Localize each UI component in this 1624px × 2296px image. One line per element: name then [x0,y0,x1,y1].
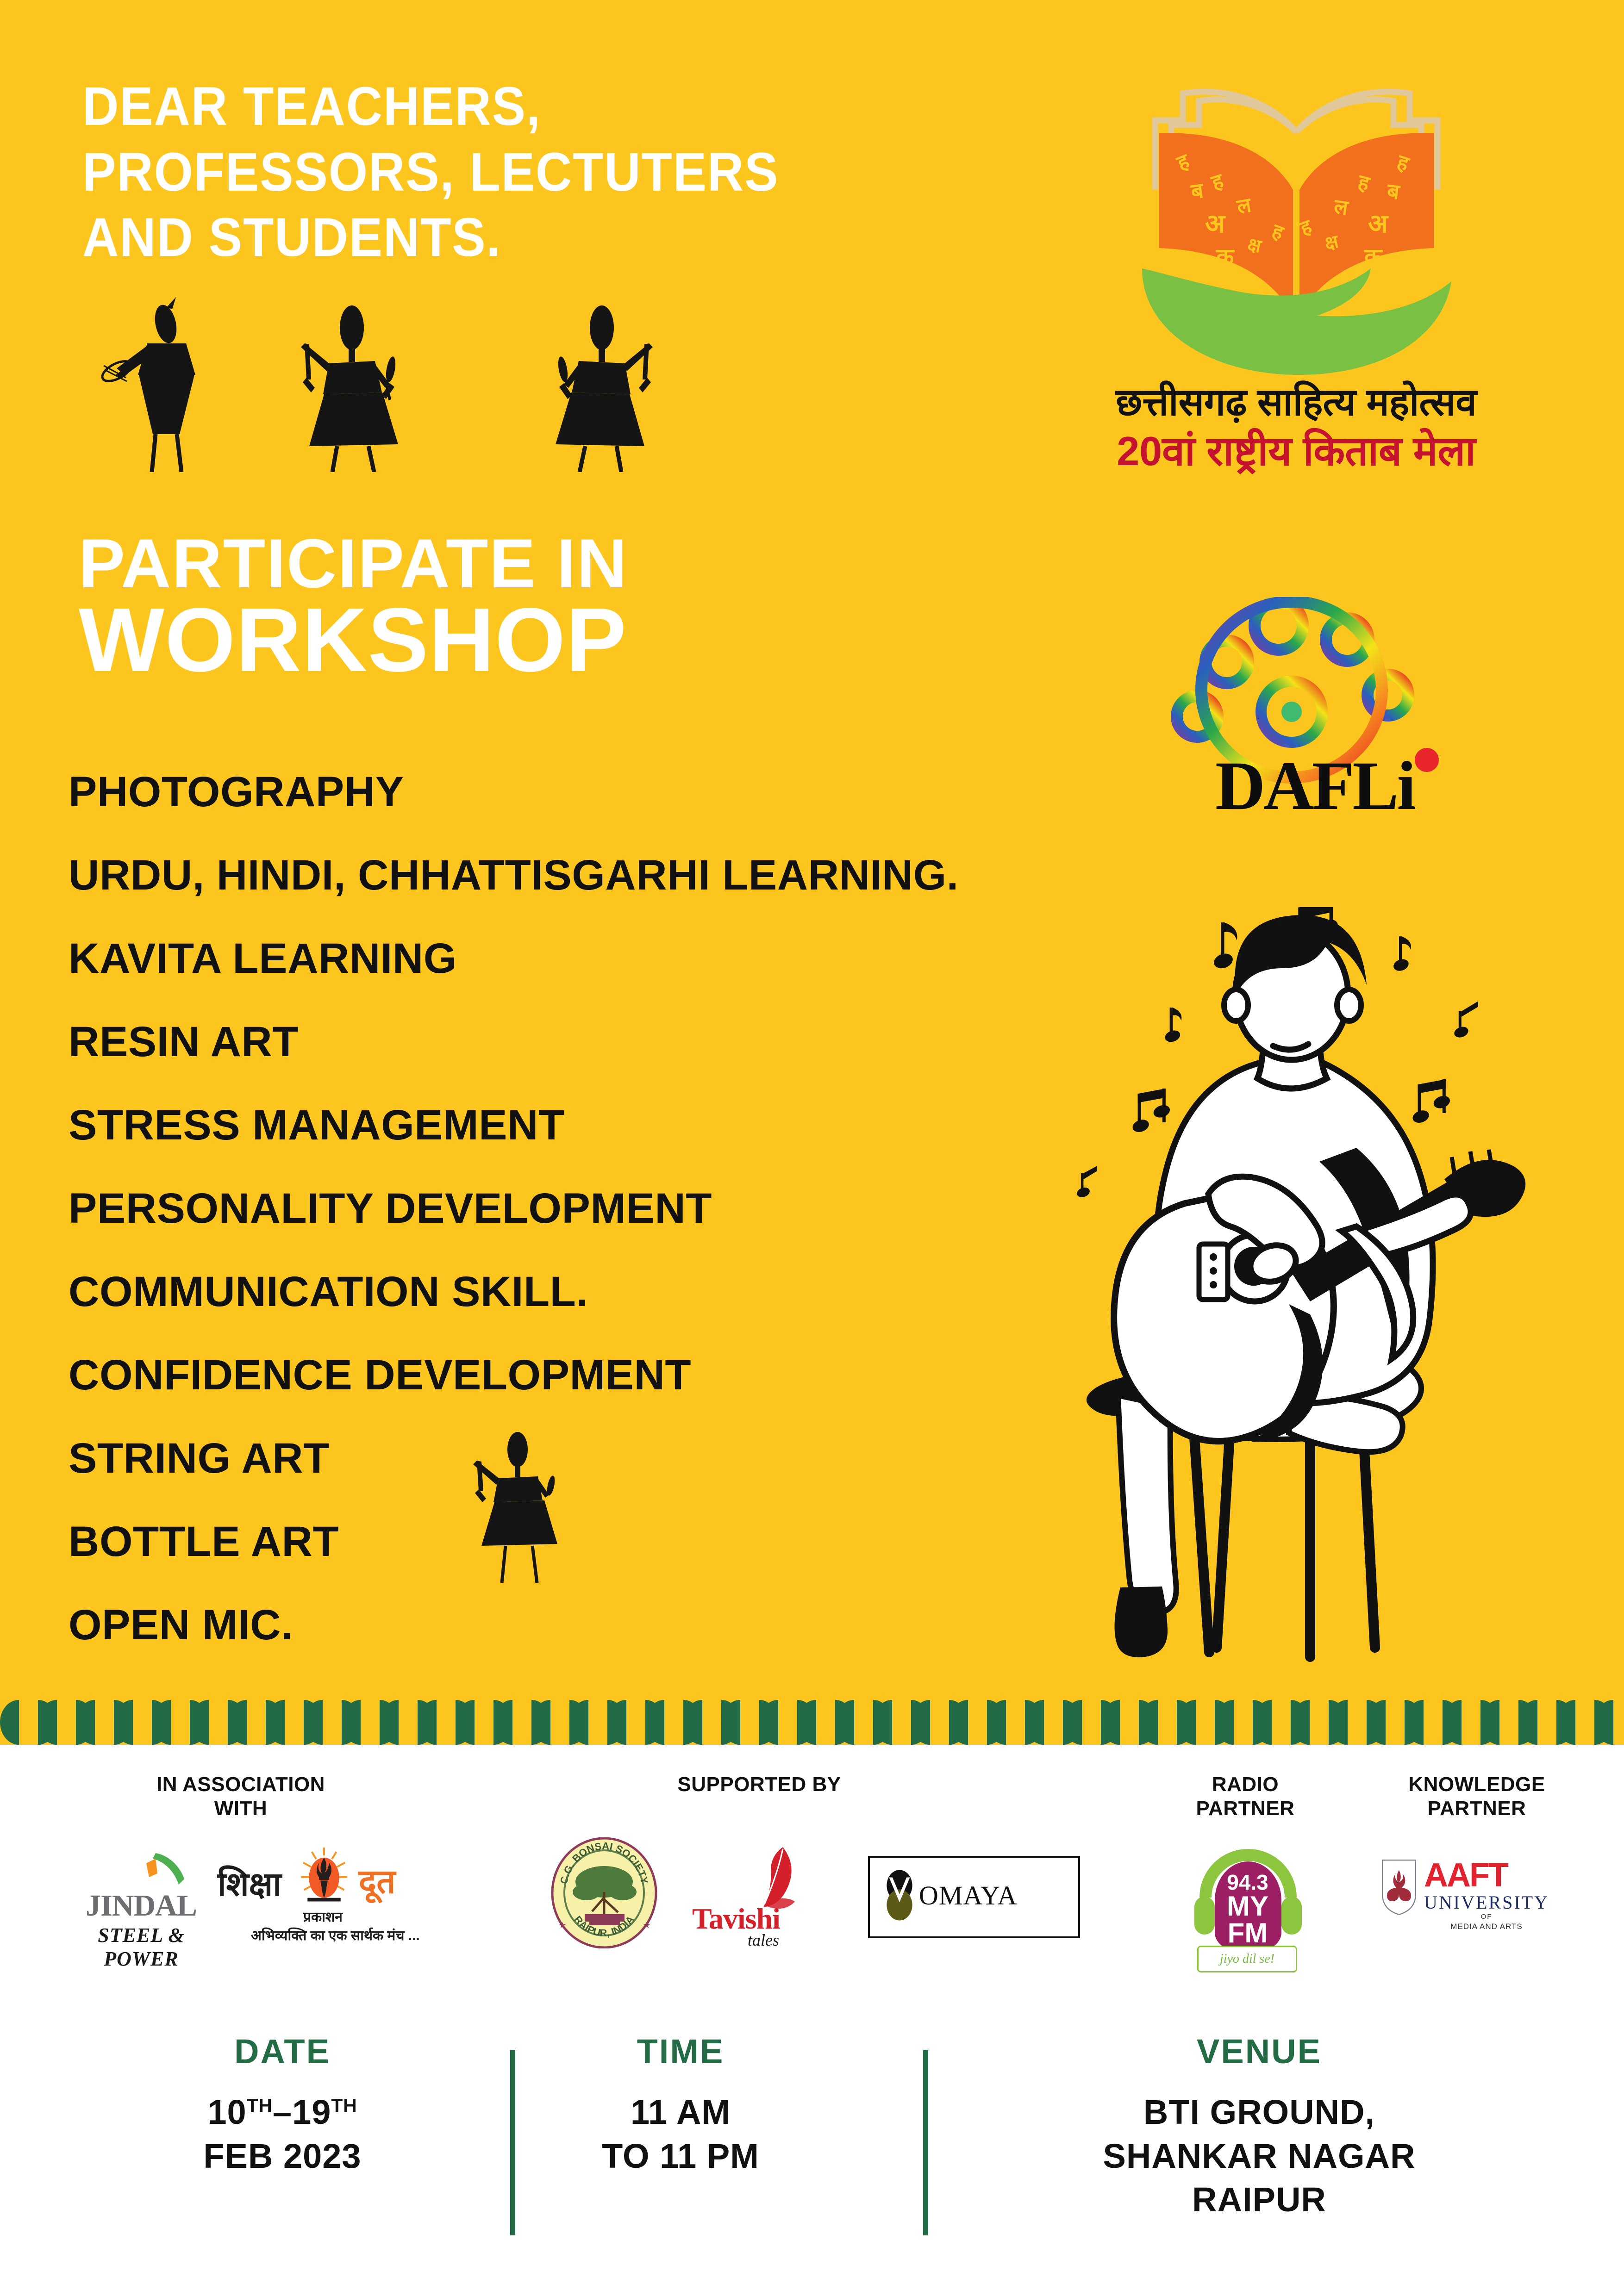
list-item: STRESS MANAGEMENT [69,1104,1180,1146]
prakashan-word: प्रकाशन [303,1907,343,1926]
sponsor-heading-line-2: WITH [130,1797,352,1821]
svg-text:क: क [1364,244,1383,270]
aaft-university-text: UNIVERSITY [1424,1892,1549,1913]
list-item: COMMUNICATION SKILL. [69,1270,1180,1313]
venue-block: VENUE BTI GROUND, SHANKAR NAGAR RAIPUR [981,2032,1537,2222]
omaya-wordmark: OMAYA [919,1880,1017,1911]
warli-dancers-top-illustration [69,287,856,472]
date-block: DATE 10TH–19TH FEB 2023 [176,2032,389,2178]
aaft-of-text: OF [1424,1913,1549,1921]
festival-name-hindi: छत्तीसगढ़ साहित्य महोत्सव [1044,383,1549,422]
list-item: OPEN MIC. [69,1604,1180,1646]
svg-text:क: क [1216,244,1235,270]
jindal-wordmark: JINDAL [65,1888,218,1923]
aaft-media-arts-text: MEDIA AND ARTS [1424,1922,1549,1931]
sponsor-heading-knowledge-partner: KNOWLEDGE PARTNER [1370,1773,1583,1821]
shiksha-word: शिक्षा [218,1860,281,1906]
date-month-year: FEB 2023 [176,2134,389,2178]
page-title: PARTICIPATE IN WORKSHOP [79,530,1051,684]
sponsor-heading-line-1: RADIO [1148,1773,1343,1797]
tavishi-tales-logo: Tavishi tales [692,1844,826,1946]
venue-title: VENUE [981,2032,1537,2071]
jindal-steel-and-power-logo: JINDAL STEEL & POWER [65,1847,218,1939]
jindal-subtitle: STEEL & POWER [65,1923,218,1971]
sponsor-heading-supported-by: SUPPORTED BY [643,1773,875,1797]
sponsor-heading-radio-partner: RADIO PARTNER [1148,1773,1343,1821]
sponsor-heading-line-1: IN ASSOCIATION [130,1773,352,1797]
date-title: DATE [176,2032,389,2071]
list-item: URDU, HINDI, CHHATTISGARHI LEARNING. [69,854,1180,896]
event-info-bar: DATE 10TH–19TH FEB 2023 TIME 11 AM TO 11… [0,2009,1624,2296]
salutation-line-3: AND STUDENTS. [82,205,934,271]
sponsor-heading-line-1: KNOWLEDGE [1370,1773,1583,1797]
doot-word: दूत [359,1858,395,1903]
headline-line-2: WORKSHOP [79,597,1051,684]
pen-nib-flame-icon [299,1848,350,1909]
aaft-shield-icon [1380,1857,1418,1917]
time-start: 11 AM [579,2091,782,2134]
myfm-word-my: MY [1185,1893,1310,1919]
sponsor-heading-in-association: IN ASSOCIATION WITH [130,1773,352,1821]
cg-bonsai-society-logo: C.G. BONSAI SOCIETY RAIPUR, INDIA ★ ★ [549,1837,660,1948]
sponsors-section: IN ASSOCIATION WITH JINDAL STEEL & POWER… [0,1745,1624,2004]
divider-rule-1 [510,2050,515,2235]
quill-feather-icon [692,1844,826,1909]
guitarist-illustration [1032,907,1611,1671]
tavishi-tales-subtitle: tales [748,1930,826,1950]
sponsor-heading-line-2: PARTNER [1370,1797,1583,1821]
myfm-radio-logo: 94.3 MY FM jiyo dil se! [1185,1842,1310,1962]
aaft-university-logo: AAFT UNIVERSITY OF MEDIA AND ARTS [1380,1854,1583,1941]
list-item: KAVITA LEARNING [69,937,1180,980]
headline-line-1: PARTICIPATE IN [79,530,1051,597]
myfm-word-fm: FM [1185,1920,1310,1946]
salutation-block: DEAR TEACHERS, PROFESSORS, LECTUTERS AND… [82,74,934,271]
list-item: PHOTOGRAPHY [69,771,1180,813]
warli-dancing-pair-illustration [458,1430,681,1606]
time-title: TIME [579,2032,782,2071]
shiksha-doot-prakashan-logo: शिक्षा दूत प्रकाशन अभिव्यक्ति का एक सार्… [218,1842,463,1948]
date-range: 10TH–19TH [176,2091,389,2134]
festival-logo: ह ह ब ल अ क्ष ह क ह ह ब ल अ क्ष ह [1044,51,1549,532]
salutation-line-2: PROFESSORS, LECTUTERS [82,140,934,205]
poster-root: DEAR TEACHERS, PROFESSORS, LECTUTERS AND… [0,0,1624,2296]
omaya-logo: OMAYA [868,1856,1080,1938]
svg-text:★: ★ [559,1921,566,1930]
list-item: CONFIDENCE DEVELOPMENT [69,1354,1180,1396]
open-book-in-hand-icon: ह ह ब ल अ क्ष ह क ह ह ब ल अ क्ष ह [1099,51,1493,384]
list-item: RESIN ART [69,1020,1180,1063]
salutation-line-1: DEAR TEACHERS, [82,74,934,140]
sponsor-heading-line-2: PARTNER [1148,1797,1343,1821]
venue-line-3: RAIPUR [981,2178,1537,2222]
svg-text:★: ★ [643,1921,650,1930]
scallop-divider [0,1700,1624,1745]
sponsor-heading-line-1: SUPPORTED BY [643,1773,875,1797]
dafli-wordmark: DAFLi [1153,746,1477,826]
dafli-logo: DAFLi [1153,597,1477,824]
shiksha-doot-tagline: अभिव्यक्ति का एक सार्थक मंच ... [251,1925,420,1944]
aaft-wordmark: AAFT [1424,1856,1507,1894]
festival-subtitle-hindi: 20वां राष्ट्रीय किताब मेला [1044,430,1549,472]
list-item: PERSONALITY DEVELOPMENT [69,1187,1180,1230]
time-block: TIME 11 AM TO 11 PM [579,2032,782,2178]
venue-line-1: BTI GROUND, [981,2091,1537,2134]
svg-text:अ: अ [1368,209,1389,238]
venue-line-2: SHANKAR NAGAR [981,2134,1537,2178]
svg-text:अ: अ [1205,209,1226,238]
divider-rule-2 [923,2050,928,2235]
time-end: TO 11 PM [579,2134,782,2178]
myfm-tagline: jiyo dil se! [1220,1952,1274,1966]
